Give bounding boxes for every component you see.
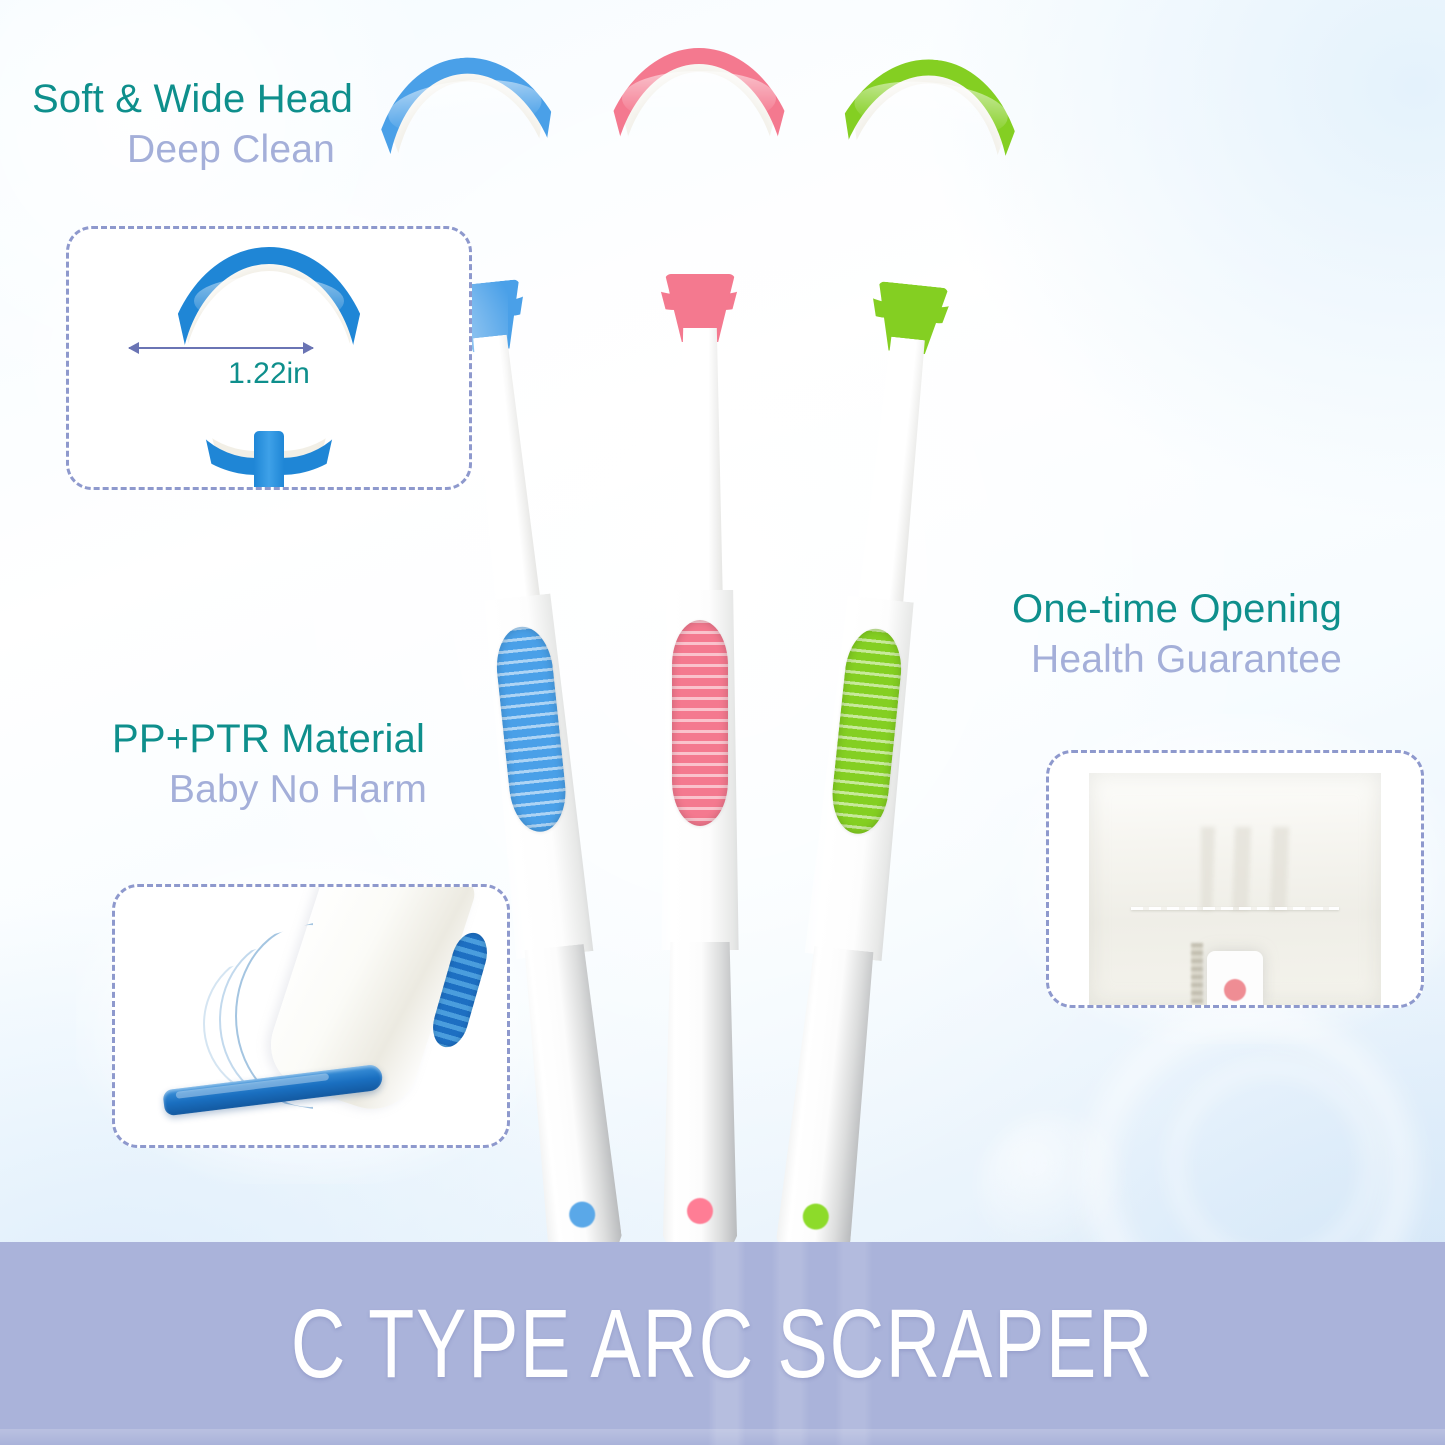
scraper-shaft bbox=[517, 943, 624, 1265]
scraper-head-pink bbox=[595, 42, 805, 342]
product-name-title: C TYPE ARC SCRAPER bbox=[291, 1295, 1154, 1392]
feature-subtitle: Health Guarantee bbox=[1012, 638, 1342, 682]
feature-title: Soft & Wide Head bbox=[32, 78, 430, 120]
sealed-package bbox=[1089, 773, 1381, 1005]
package-seal-line bbox=[1131, 907, 1339, 910]
scraper-shaft bbox=[774, 945, 881, 1267]
grip-pad-green bbox=[828, 626, 905, 837]
head-closeup-photo: 1.22in bbox=[69, 229, 469, 487]
feature-title: PP+PTR Material bbox=[112, 718, 484, 760]
package-handle-tip bbox=[1207, 951, 1263, 1005]
dimension-label: 1.22in bbox=[69, 357, 469, 391]
feature-title: One-time Opening bbox=[1012, 588, 1342, 630]
package-contents bbox=[1201, 827, 1351, 911]
package-stick bbox=[1191, 943, 1203, 1005]
scraper-mid-handle bbox=[797, 594, 926, 962]
product-infographic: Soft & Wide Head Deep Clean 1.22in PP+PT… bbox=[0, 0, 1445, 1445]
closeup-stem bbox=[254, 431, 284, 490]
feature-soft-wide-head: Soft & Wide Head Deep Clean bbox=[32, 78, 430, 172]
handle-end-dot-pink bbox=[687, 1198, 713, 1224]
head-colored-rim bbox=[595, 48, 803, 310]
dimension-arrow-icon bbox=[129, 347, 313, 349]
handle-end-dot-green bbox=[802, 1202, 831, 1231]
scraper-head-green bbox=[802, 43, 1042, 363]
scraper-shaft bbox=[663, 942, 737, 1258]
inset-flexibility-closeup bbox=[112, 884, 510, 1148]
inset-head-closeup: 1.22in bbox=[66, 226, 472, 490]
inset-packaging-closeup bbox=[1046, 750, 1424, 1008]
scraper-neck bbox=[670, 328, 730, 598]
feature-subtitle: Baby No Harm bbox=[112, 768, 484, 812]
feature-pp-ptr-material: PP+PTR Material Baby No Harm bbox=[112, 718, 484, 812]
bottom-banner: C TYPE ARC SCRAPER bbox=[0, 1242, 1445, 1445]
package-dot-icon bbox=[1224, 979, 1246, 1001]
handle-end-dot-blue bbox=[568, 1200, 597, 1229]
scraper-neck bbox=[460, 333, 548, 608]
feature-subtitle: Deep Clean bbox=[32, 128, 430, 172]
scraper-mid-handle bbox=[654, 590, 746, 950]
scraper-neck bbox=[850, 335, 938, 610]
banner-shine bbox=[0, 1429, 1445, 1445]
grip-pad-pink bbox=[672, 620, 728, 826]
grip-pad-blue bbox=[493, 624, 570, 835]
feature-one-time-opening: One-time Opening Health Guarantee bbox=[1012, 588, 1342, 682]
